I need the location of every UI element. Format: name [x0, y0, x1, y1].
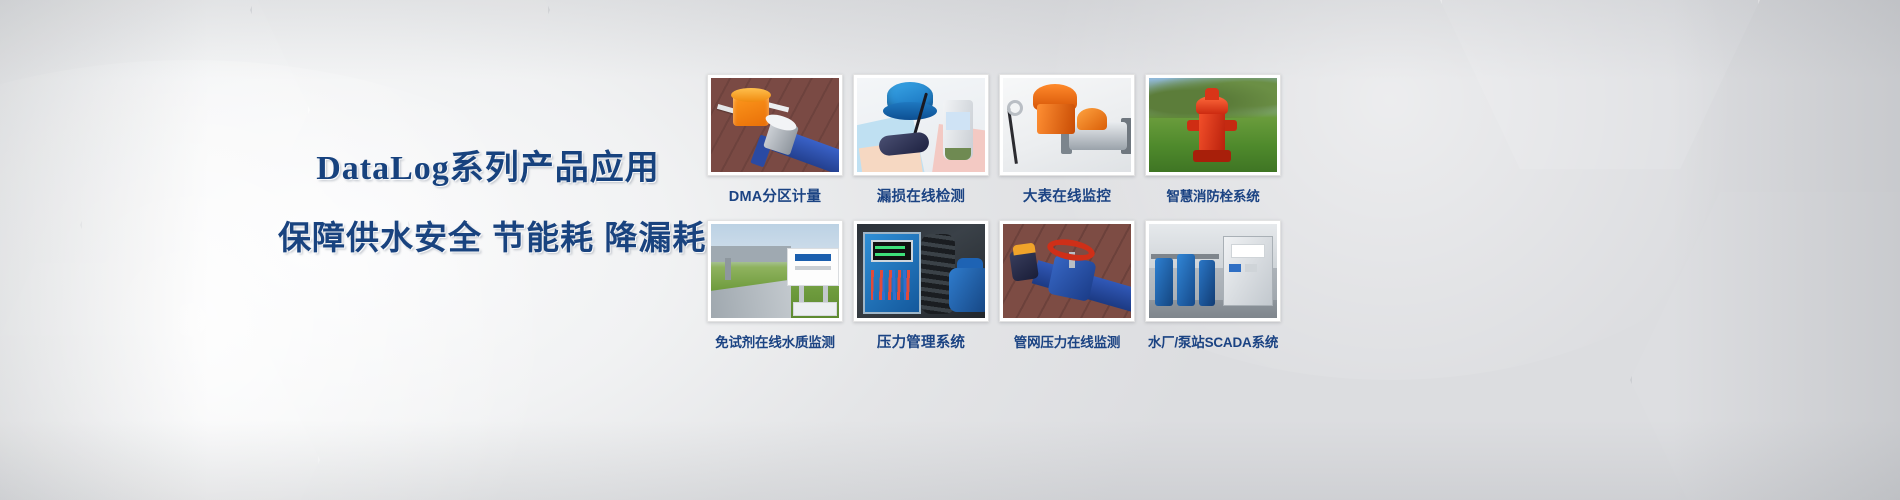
- product-caption: DMA分区计量: [707, 185, 843, 206]
- product-caption: 大表在线监控: [999, 185, 1135, 206]
- leak-online-detection-photo: [857, 78, 985, 172]
- headline-block: DataLog系列产品应用 保障供水安全 节能耗 降漏耗: [278, 148, 698, 259]
- product-row: 免试剂在线水质监测 压力管理系统: [707, 220, 1287, 352]
- product-thumbnail[interactable]: [999, 220, 1135, 322]
- product-thumbnail[interactable]: [853, 220, 989, 322]
- headline-primary: DataLog系列产品应用: [278, 148, 698, 191]
- product-tile-large-meter-monitoring[interactable]: 大表在线监控: [999, 74, 1135, 206]
- product-tile-scada-system[interactable]: 水厂/泵站SCADA系统: [1145, 220, 1281, 352]
- smart-fire-hydrant-system-photo: [1149, 78, 1277, 172]
- hexagon-shape: [1440, 0, 1760, 180]
- product-thumbnail[interactable]: [999, 74, 1135, 176]
- reagent-free-water-quality-monitoring-photo: [711, 224, 839, 318]
- pressure-management-system-photo: [857, 224, 985, 318]
- product-tile-smart-fire-hydrant[interactable]: 智慧消防栓系统: [1145, 74, 1281, 206]
- light-glow: [0, 60, 640, 500]
- product-row: DMA分区计量 漏损在线检测: [707, 74, 1287, 206]
- product-thumbnail[interactable]: [707, 220, 843, 322]
- product-caption: 漏损在线检测: [853, 185, 989, 206]
- product-tile-leak-online-detection[interactable]: 漏损在线检测: [853, 74, 989, 206]
- large-meter-online-monitoring-photo: [1003, 78, 1131, 172]
- product-thumbnail[interactable]: [1145, 74, 1281, 176]
- product-tile-pressure-management[interactable]: 压力管理系统: [853, 220, 989, 352]
- product-thumbnail[interactable]: [853, 74, 989, 176]
- hexagon-shape: [0, 250, 320, 500]
- product-tile-dma-zone-metering[interactable]: DMA分区计量: [707, 74, 843, 206]
- product-caption: 免试剂在线水质监测: [707, 331, 843, 351]
- waterworks-pump-station-scada-photo: [1149, 224, 1277, 318]
- dma-zone-metering-photo: [711, 78, 839, 172]
- hexagon-shape: [1630, 180, 1900, 500]
- product-tile-pipe-network-pressure[interactable]: 管网压力在线监测: [999, 220, 1135, 352]
- product-thumbnail[interactable]: [1145, 220, 1281, 322]
- product-caption: 压力管理系统: [853, 331, 989, 352]
- product-grid: DMA分区计量 漏损在线检测: [707, 74, 1287, 352]
- product-thumbnail[interactable]: [707, 74, 843, 176]
- pipe-network-pressure-monitoring-photo: [1003, 224, 1131, 318]
- product-caption: 水厂/泵站SCADA系统: [1145, 331, 1281, 351]
- headline-secondary: 保障供水安全 节能耗 降漏耗: [278, 217, 698, 260]
- promo-banner: DataLog系列产品应用 保障供水安全 节能耗 降漏耗 DMA分区计量: [0, 0, 1900, 500]
- product-tile-water-quality-monitoring[interactable]: 免试剂在线水质监测: [707, 220, 843, 352]
- hexagon-shape: [0, 0, 310, 350]
- product-caption: 管网压力在线监测: [999, 331, 1135, 351]
- product-caption: 智慧消防栓系统: [1145, 185, 1281, 205]
